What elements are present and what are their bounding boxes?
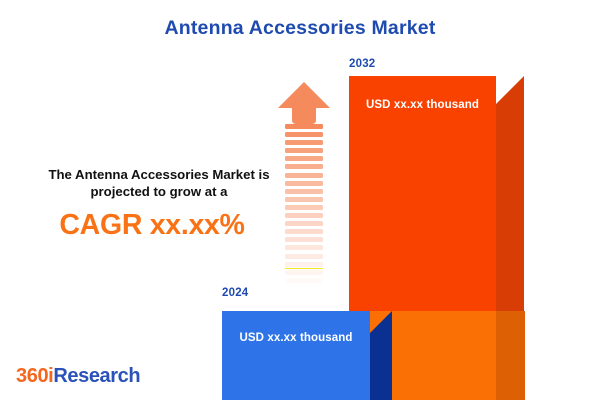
logo-mark-text: 360i (16, 365, 53, 387)
arrow-shaft-stripe (285, 237, 323, 242)
bar-2024-side-face (370, 311, 392, 400)
arrow-shaft-stripe (285, 124, 323, 129)
bar-2024-front-face (222, 311, 370, 400)
arrow-shaft-stripe (285, 205, 323, 210)
arrow-shaft-stripe (285, 221, 323, 226)
arrow-shaft-stripe (285, 189, 323, 194)
page-title: Antenna Accessories Market (0, 17, 600, 40)
arrow-shaft-stripe (285, 132, 323, 137)
cagr-value: CAGR xx.xx% (18, 209, 286, 242)
arrow-shaft-stripe (285, 181, 323, 186)
bar-2032-side-face-lower (496, 311, 525, 400)
arrow-shaft-stripe (285, 148, 323, 153)
arrow-shaft-stripe (285, 286, 323, 291)
arrow-shaft-stripe (285, 213, 323, 218)
arrow-highlight-line (285, 268, 323, 269)
bar-year-label-2024: 2024 (222, 287, 248, 299)
infographic-canvas: Antenna Accessories Market The Antenna A… (0, 0, 600, 400)
growth-statement: The Antenna Accessories Market is projec… (18, 166, 286, 242)
arrow-shaft-stripe (285, 229, 323, 234)
arrow-shaft-stripe (285, 270, 323, 275)
arrow-shaft-stripe (285, 164, 323, 169)
bar-year-label-2032: 2032 (349, 58, 375, 70)
arrow-shaft-stripe (285, 197, 323, 202)
bar-2024-value-label: USD xx.xx thousand (222, 332, 370, 344)
arrow-shaft-stripe (285, 278, 323, 283)
arrow-shaft-stripe (285, 262, 323, 267)
growth-statement-text: The Antenna Accessories Market is projec… (18, 166, 286, 200)
up-arrow-shaft (285, 124, 323, 292)
up-arrow-icon (278, 82, 330, 292)
arrow-shaft-stripe (285, 173, 323, 178)
arrow-shaft-stripe (285, 156, 323, 161)
arrow-shaft-stripe (285, 140, 323, 145)
bar-2032-value-label: USD xx.xx thousand (349, 99, 496, 111)
bar-2032-front-face-upper (349, 76, 496, 311)
arrow-shaft-stripe (285, 254, 323, 259)
up-arrow-head-icon (278, 82, 330, 124)
logo-word-text: Research (53, 365, 140, 387)
arrow-shaft-stripe (285, 245, 323, 250)
brand-logo: 360iResearch (16, 365, 140, 388)
bar-2024: USD xx.xx thousand (222, 311, 392, 400)
